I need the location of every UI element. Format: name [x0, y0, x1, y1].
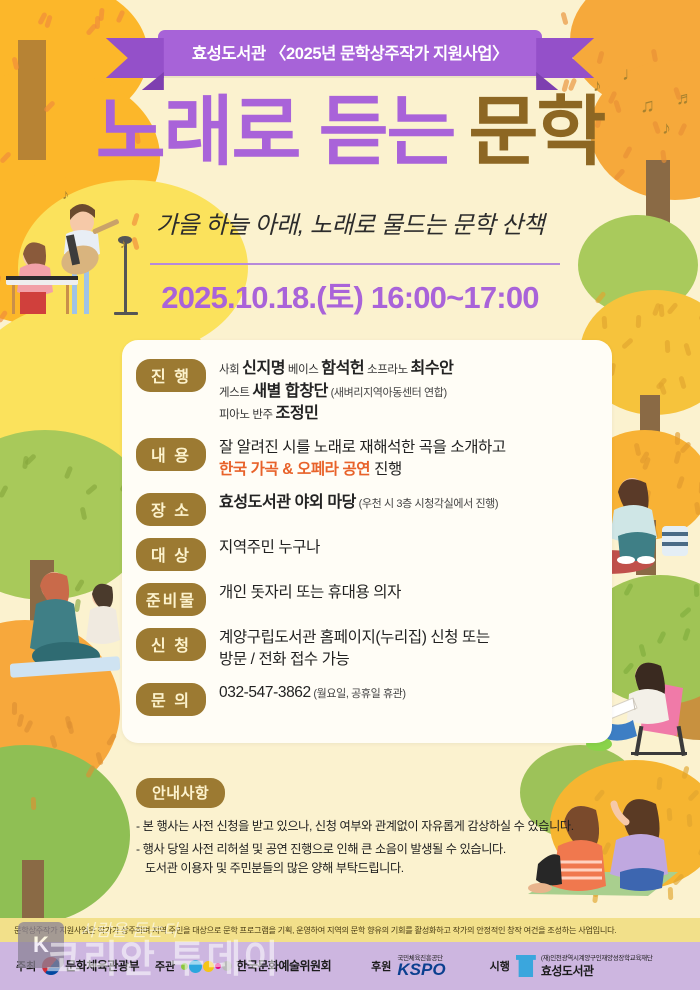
decor-trunk-left-2 [30, 560, 54, 650]
music-note-icon: ♪ [662, 118, 671, 139]
info-row-body: 032-547-3862 (월요일, 공휴일 휴관) [219, 682, 596, 704]
info-row-badge: 장 소 [136, 493, 206, 526]
event-datetime: 2025.10.18.(토) 16:00~17:00 [0, 272, 700, 317]
info-text-strong: 효성도서관 야외 마당 [219, 494, 356, 511]
info-row-badge: 준비물 [136, 583, 206, 616]
info-text-plain: 진행 [370, 461, 402, 478]
poster-subtitle: 가을 하늘 아래, 노래로 물드는 문학 산책 [0, 205, 700, 240]
decor-leaf [675, 432, 680, 445]
decor-leaf [602, 842, 612, 856]
info-text-role: 소프라노 [364, 364, 410, 376]
decor-leaf [694, 584, 700, 597]
info-row-badge: 문 의 [136, 683, 206, 716]
decor-leaf [688, 789, 700, 802]
decor-leaf [86, 765, 97, 779]
decor-leaf [668, 887, 674, 900]
info-text-paren: (새벼리지역아동센터 연합) [328, 387, 447, 399]
decor-leaf [634, 443, 642, 457]
info-row-body: 효성도서관 야외 마당 (우천 시 3층 시청각실에서 진행) [219, 492, 596, 515]
footer-group-kspo: 후원국민체육진흥공단KSPO [371, 952, 445, 980]
decor-leaf [630, 690, 642, 703]
decor-leaf [74, 599, 81, 613]
footer-group-org-wrap: (재)인천광역시계양구인재양성장학교육재단효성도서관 [541, 952, 653, 980]
notice-badge: 안내사항 [136, 778, 225, 808]
info-text-strong: 신지명 [242, 360, 285, 377]
info-row-body: 잘 알려진 시를 노래로 재해석한 곡을 소개하고한국 가곡 & 오페라 공연 … [219, 437, 596, 481]
ribbon-text: 효성도서관 〈2025년 문학상주작가 지원사업〉 [192, 45, 508, 63]
title-part-two: 문학 [468, 90, 604, 175]
decor-leaf [0, 485, 9, 499]
info-text-accent: 한국 가곡 & 오페라 공연 [219, 461, 370, 478]
decor-leaf [650, 525, 658, 539]
info-row-line: 032-547-3862 (월요일, 공휴일 휴관) [219, 682, 596, 704]
music-note-icon: ♪ [593, 76, 602, 96]
notice-section: 안내사항 - 본 행사는 사전 신청을 받고 있으나, 신청 여부와 관계없이 … [136, 778, 586, 882]
poster-canvas: 효성도서관 〈2025년 문학상주작가 지원사업〉 노래로 듣는문학 ♪ ♩ ♫… [0, 0, 700, 990]
title-divider [150, 263, 560, 265]
title-part-one: 노래로 듣는 [96, 90, 455, 175]
decor-leaf [667, 808, 673, 821]
event-details-card: 진 행사회 신지명 베이스 함석헌 소프라노 최수안게스트 새별 합창단 (새벼… [122, 340, 612, 743]
footer-group-label: 시행 [490, 958, 510, 974]
ribbon-banner: 효성도서관 〈2025년 문학상주작가 지원사업〉 [0, 30, 700, 76]
decor-leaf [593, 883, 599, 896]
info-row-line: 방문 / 전화 접수 가능 [219, 649, 596, 671]
info-row: 신 청계양구립도서관 홈페이지(누리집) 신청 또는방문 / 전화 접수 가능 [136, 627, 596, 671]
info-row-body: 개인 돗자리 또는 휴대용 의자 [219, 582, 596, 604]
decor-hill-green-left-2 [0, 745, 130, 925]
footer-group-org-wrap: 국민체육진흥공단KSPO [397, 952, 445, 980]
decor-leaf [64, 465, 74, 479]
info-row-line: 한국 가곡 & 오페라 공연 진행 [219, 459, 596, 481]
notice-list: - 본 행사는 사전 신청을 받고 있으나, 신청 여부와 관계없이 자유롭게 … [136, 817, 586, 877]
info-row-line: 계양구립도서관 홈페이지(누리집) 신청 또는 [219, 627, 596, 649]
info-text-plain: 032-547-3862 [219, 684, 311, 701]
decor-leaf [650, 824, 659, 838]
decor-leaf [106, 733, 117, 747]
footer-group-org-small: (재)인천광역시계양구인재양성장학교육재단 [541, 952, 653, 962]
footer-group-label: 후원 [371, 958, 391, 974]
info-text-role: 피아노 반주 [219, 409, 276, 421]
decor-trunk-right-3 [640, 395, 660, 460]
info-text-plain: 계양구립도서관 홈페이지(누리집) 신청 또는 [219, 629, 490, 646]
footer-group-org: KSPO [397, 960, 445, 979]
decor-leaf [614, 861, 622, 875]
info-row-line: 개인 돗자리 또는 휴대용 의자 [219, 582, 596, 604]
decor-leaf [23, 720, 33, 734]
decor-leaf [682, 628, 691, 642]
decor-leaf [635, 523, 645, 537]
decor-leaf [656, 777, 662, 790]
decor-leaf [621, 337, 634, 349]
illustration-readers-left [10, 560, 130, 710]
decor-hill-orange-left [0, 620, 120, 800]
decor-leaf [682, 766, 690, 780]
music-note-icon: ♫ [640, 95, 655, 118]
info-row-body: 사회 신지명 베이스 함석헌 소프라노 최수안게스트 새별 합창단 (새벼리지역… [219, 358, 596, 426]
decor-leaf [115, 10, 125, 24]
decor-leaf [602, 315, 608, 328]
notice-item: - 본 행사는 사전 신청을 받고 있으나, 신청 여부와 관계없이 자유롭게 … [136, 817, 586, 835]
info-text-paren: (월요일, 공휴일 휴관) [311, 688, 406, 700]
info-text-plain: 지역주민 누구나 [219, 539, 320, 556]
decor-leaf [561, 12, 569, 26]
info-row: 내 용잘 알려진 시를 노래로 재해석한 곡을 소개하고한국 가곡 & 오페라 … [136, 437, 596, 481]
decor-leaf [644, 489, 652, 503]
notice-item-main: - 행사 당일 사전 리허설 및 공연 진행으로 인해 큰 소음이 발생될 수 … [136, 842, 506, 856]
watermark-brand: 코리안 투데이 [46, 928, 280, 983]
decor-leaf [676, 476, 685, 490]
info-row: 대 상지역주민 누구나 [136, 537, 596, 571]
info-text-strong: 최수안 [411, 360, 454, 377]
page-title: 노래로 듣는문학 [0, 95, 700, 171]
info-row: 준비물개인 돗자리 또는 휴대용 의자 [136, 582, 596, 616]
info-row-line: 게스트 새별 합창단 (새벼리지역아동센터 연합) [219, 381, 596, 404]
info-row-badge: 내 용 [136, 438, 206, 471]
library-book-icon [516, 955, 536, 977]
notice-item-main: - 본 행사는 사전 신청을 받고 있으나, 신청 여부와 관계없이 자유롭게 … [136, 819, 574, 833]
decor-leaf [622, 525, 631, 539]
music-note-icon: ♪ [62, 186, 69, 202]
info-text-strong: 새별 합창단 [252, 383, 328, 400]
info-row-body: 계양구립도서관 홈페이지(누리집) 신청 또는방문 / 전화 접수 가능 [219, 627, 596, 671]
decor-leaf [593, 789, 605, 802]
decor-leaf [98, 8, 104, 21]
decor-leaf [672, 873, 684, 886]
info-row-badge: 대 상 [136, 538, 206, 571]
info-text-strong: 함석헌 [321, 360, 364, 377]
info-row-line: 지역주민 누구나 [219, 537, 596, 559]
music-note-icon: ♬ [676, 88, 694, 109]
info-text-role: 사회 [219, 364, 242, 376]
decor-leaf [12, 702, 17, 715]
decor-leaf [16, 713, 24, 727]
info-text-strong: 조정민 [276, 405, 319, 422]
decor-leaf [683, 343, 692, 357]
info-row-badge: 신 청 [136, 628, 206, 661]
decor-leaf [49, 735, 57, 749]
ribbon-tail-left [106, 38, 164, 78]
info-text-plain: 개인 돗자리 또는 휴대용 의자 [219, 584, 401, 601]
decor-leaf [95, 752, 103, 766]
ribbon-tail-right [536, 38, 594, 78]
info-text-paren: (우천 시 3층 시청각실에서 진행) [356, 498, 498, 510]
footer-group-lib: 시행(재)인천광역시계양구인재양성장학교육재단효성도서관 [490, 952, 653, 980]
info-row-line: 피아노 반주 조정민 [219, 403, 596, 426]
decor-tree-right-5b [630, 620, 700, 740]
notice-item-sub: 도서관 이용자 및 주민분들의 많은 양해 부탁드립니다. [136, 859, 586, 877]
info-text-plain: 잘 알려진 시를 노래로 재해석한 곡을 소개하고 [219, 439, 506, 456]
decor-leaf [591, 831, 597, 844]
decor-leaf [678, 375, 686, 389]
info-row-body: 지역주민 누구나 [219, 537, 596, 559]
decor-leaf [673, 451, 681, 465]
decor-leaf [653, 677, 663, 691]
footer-group-org: 효성도서관 [541, 964, 594, 978]
decor-leaf [679, 606, 692, 618]
decor-leaf [639, 644, 647, 658]
decor-leaf [656, 630, 666, 644]
info-text-role: 게스트 [219, 387, 252, 399]
info-text-plain: 방문 / 전화 접수 가능 [219, 651, 349, 668]
decor-leaf [664, 340, 670, 353]
decor-leaf [623, 662, 635, 675]
decor-leaf [74, 578, 85, 592]
info-row-line: 효성도서관 야외 마당 (우천 시 3층 시청각실에서 진행) [219, 492, 596, 515]
decor-leaf [694, 502, 700, 516]
decor-leaf [623, 582, 634, 596]
info-row: 장 소효성도서관 야외 마당 (우천 시 3층 시청각실에서 진행) [136, 492, 596, 526]
info-row: 문 의032-547-3862 (월요일, 공휴일 휴관) [136, 682, 596, 716]
decor-leaf [85, 484, 98, 496]
info-row-line: 잘 알려진 시를 노래로 재해석한 곡을 소개하고 [219, 437, 596, 459]
info-row-line: 사회 신지명 베이스 함석헌 소프라노 최수안 [219, 358, 596, 381]
decor-leaf [30, 796, 36, 809]
decor-leaf [636, 315, 642, 328]
info-row: 진 행사회 신지명 베이스 함석헌 소프라노 최수안게스트 새별 합창단 (새벼… [136, 358, 596, 426]
notice-item: - 행사 당일 사전 리허설 및 공연 진행으로 인해 큰 소음이 발생될 수 … [136, 840, 586, 877]
info-text-role: 베이스 [285, 364, 321, 376]
decor-leaf [65, 716, 73, 730]
decor-leaf [80, 507, 88, 521]
info-row-badge: 진 행 [136, 359, 206, 392]
music-note-icon: ♩ [622, 64, 641, 86]
decor-leaf [686, 814, 692, 827]
